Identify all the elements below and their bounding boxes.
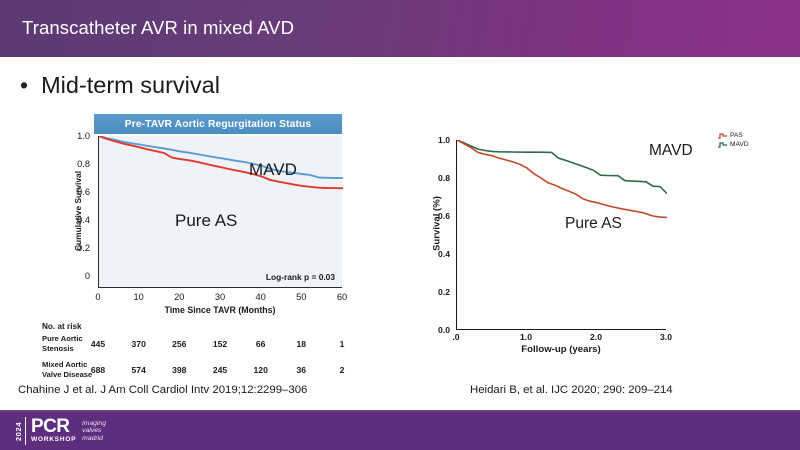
right-chart-y-ticks: 1.0 0.8 0.6 0.4 0.2 0.0 xyxy=(418,128,450,328)
pcr-logo: 2024 PCR WORKSHOP imaging valves madrid xyxy=(13,417,106,445)
left-chart-pureas-label: Pure AS xyxy=(175,211,237,231)
right-ytick-2: 0.8 xyxy=(438,173,450,183)
slide-root: Transcatheter AVR in mixed AVD • Mid-ter… xyxy=(0,0,800,450)
logo-brand-block: PCR WORKSHOP xyxy=(26,417,80,445)
legend-item-pas: PAS xyxy=(718,132,749,139)
right-xtick-2: 1.0 xyxy=(520,332,532,342)
left-ytick-5: 0.2 xyxy=(77,243,90,253)
slide-title: Transcatheter AVR in mixed AVD xyxy=(22,17,294,39)
right-chart-mavd-label: MAVD xyxy=(649,142,693,160)
right-chart-legend: PAS MAVD xyxy=(718,132,749,148)
left-ytick-6: 0 xyxy=(85,271,90,281)
left-chart-y-ticks: 1.0 0.8 0.6 0.4 0.2 0 xyxy=(56,114,90,314)
right-ytick-4: 0.4 xyxy=(438,249,450,259)
risk-value: 574 xyxy=(132,365,146,375)
bullet-heading-text: Mid-term survival xyxy=(41,72,220,99)
right-chart-plot-area: MAVD Pure AS xyxy=(456,140,666,330)
risk-value: 688 xyxy=(91,365,105,375)
left-xtick-2: 10 xyxy=(134,292,144,302)
left-chart-banner-title: Pre-TAVR Aortic Regurgitation Status xyxy=(94,114,342,134)
risk-value: 18 xyxy=(297,339,307,349)
risk-value: 445 xyxy=(91,339,105,349)
left-xtick-7: 60 xyxy=(337,292,347,302)
right-survival-figure: Survival (%) 1.0 0.8 0.6 0.4 0.2 0.0 MAV… xyxy=(410,128,790,368)
logo-tagline-block: imaging valves madrid xyxy=(80,417,106,445)
right-figure-citation: Heidari B, et al. IJC 2020; 290: 209–214 xyxy=(470,384,673,396)
risk-row-label: Pure Aortic Stenosis xyxy=(42,334,98,353)
risk-table-row-mavd: Mixed Aortic Valve Disease 688 574 398 2… xyxy=(42,360,352,382)
logo-year-text: 2024 xyxy=(15,421,24,440)
left-xtick-1: 0 xyxy=(95,292,100,302)
risk-value: 245 xyxy=(213,365,227,375)
logo-tagline-3: madrid xyxy=(82,435,106,443)
right-chart-x-ticks: .0 1.0 2.0 3.0 xyxy=(456,332,666,344)
risk-table-row-pure-as: Pure Aortic Stenosis 445 370 256 152 66 … xyxy=(42,334,352,356)
left-xtick-6: 50 xyxy=(296,292,306,302)
right-ytick-3: 0.6 xyxy=(438,211,450,221)
risk-value: 398 xyxy=(172,365,186,375)
logo-subtitle-text: WORKSHOP xyxy=(31,436,76,444)
risk-value: 370 xyxy=(132,339,146,349)
risk-value: 152 xyxy=(213,339,227,349)
right-xtick-3: 2.0 xyxy=(590,332,602,342)
left-chart-plot-area: MAVD Pure AS Log-rank p = 0.03 xyxy=(98,136,342,288)
risk-value: 66 xyxy=(256,339,266,349)
left-chart-mavd-label: MAVD xyxy=(249,160,297,180)
logo-brand-text: PCR xyxy=(31,418,76,436)
left-xtick-4: 30 xyxy=(215,292,225,302)
bullet-heading: • Mid-term survival xyxy=(20,72,220,99)
right-chart-curves xyxy=(457,140,667,330)
logo-tagline-1: imaging xyxy=(82,420,106,428)
left-chart-x-ticks: 0 10 20 30 40 50 60 xyxy=(98,292,342,305)
left-ytick-1: 1.0 xyxy=(77,131,90,141)
right-xtick-1: .0 xyxy=(452,332,459,342)
legend-swatch-icon xyxy=(718,141,727,148)
bullet-dot-icon: • xyxy=(20,74,28,97)
left-xtick-3: 20 xyxy=(174,292,184,302)
left-ytick-3: 0.6 xyxy=(77,187,90,197)
left-chart-logrank-annotation: Log-rank p = 0.03 xyxy=(266,272,335,282)
right-xtick-4: 3.0 xyxy=(660,332,672,342)
footer-bar: 2024 PCR WORKSHOP imaging valves madrid … xyxy=(0,412,800,450)
left-xtick-5: 40 xyxy=(256,292,266,302)
right-chart-pureas-label: Pure AS xyxy=(565,215,622,233)
logo-year-block: 2024 xyxy=(13,417,26,445)
risk-value: 36 xyxy=(297,365,307,375)
risk-value: 120 xyxy=(254,365,268,375)
left-figure-citation: Chahine J et al. J Am Coll Cardiol Intv … xyxy=(18,384,307,396)
left-survival-figure: Pre-TAVR Aortic Regurgitation Status Cum… xyxy=(42,114,352,384)
risk-row-label: Mixed Aortic Valve Disease xyxy=(42,360,98,379)
right-ytick-6: 0.0 xyxy=(438,325,450,335)
risk-value: 2 xyxy=(340,365,345,375)
logo-tagline-2: valves xyxy=(82,427,106,435)
risk-table-title: No. at risk xyxy=(42,322,82,331)
legend-item-mavd: MAVD xyxy=(718,141,749,148)
legend-swatch-icon xyxy=(718,132,727,139)
legend-label: MAVD xyxy=(730,141,749,148)
left-ytick-2: 0.8 xyxy=(77,159,90,169)
left-chart-x-axis-label: Time Since TAVR (Months) xyxy=(98,305,342,315)
risk-value: 256 xyxy=(172,339,186,349)
legend-label: PAS xyxy=(730,132,743,139)
right-ytick-1: 1.0 xyxy=(438,135,450,145)
slide-header-bar: Transcatheter AVR in mixed AVD xyxy=(0,0,800,57)
left-ytick-4: 0.4 xyxy=(77,215,90,225)
right-chart-x-axis-label: Follow-up (years) xyxy=(456,344,666,355)
right-ytick-5: 0.2 xyxy=(438,287,450,297)
risk-value: 1 xyxy=(340,339,345,349)
